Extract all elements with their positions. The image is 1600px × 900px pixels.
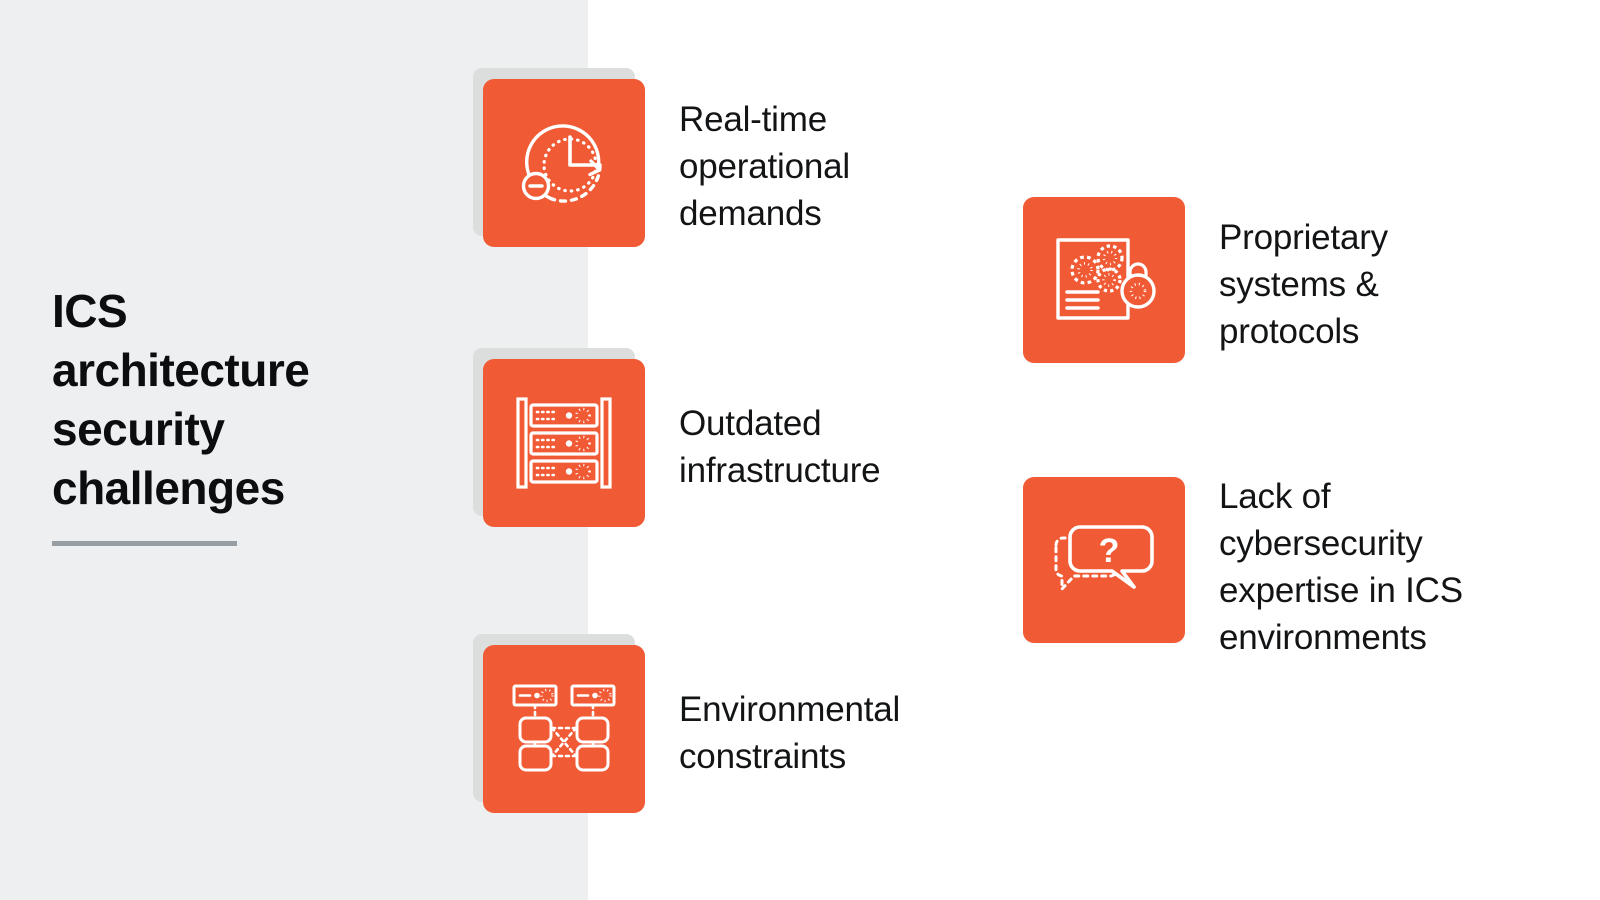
icon-card xyxy=(483,359,645,527)
challenge-label: Proprietary systems & protocols xyxy=(1219,214,1388,355)
network-topology-icon xyxy=(512,684,616,774)
icon-card-wrapper xyxy=(1023,197,1185,363)
page-title-block: ICS architecture security challenges xyxy=(52,282,452,518)
icon-card-wrapper xyxy=(483,359,645,527)
question-chat-bubble-icon: ? xyxy=(1052,517,1156,603)
challenge-item-lack-expertise: ? Lack of cybersecurity expertise in ICS… xyxy=(1023,477,1463,661)
challenge-label: Environmental constraints xyxy=(679,686,900,780)
icon-card-wrapper xyxy=(483,645,645,813)
server-rack-icon xyxy=(515,395,613,491)
challenge-item-proprietary: Proprietary systems & protocols xyxy=(1023,197,1388,363)
icon-card xyxy=(1023,197,1185,363)
page-title: ICS architecture security challenges xyxy=(52,282,452,518)
challenge-label: Real-time operational demands xyxy=(679,96,850,237)
challenge-item-outdated: Outdated infrastructure xyxy=(483,359,880,527)
challenge-item-environmental: Environmental constraints xyxy=(483,645,900,813)
icon-card-wrapper: ? xyxy=(1023,477,1185,643)
svg-text:?: ? xyxy=(1099,532,1120,570)
challenge-label: Outdated infrastructure xyxy=(679,400,880,494)
icon-card xyxy=(483,645,645,813)
challenge-item-realtime: Real-time operational demands xyxy=(483,79,850,247)
clock-refresh-icon xyxy=(512,111,616,215)
title-underline-rule xyxy=(52,541,237,546)
icon-card xyxy=(483,79,645,247)
icon-card: ? xyxy=(1023,477,1185,643)
document-gears-lock-icon xyxy=(1052,234,1156,326)
icon-card-wrapper xyxy=(483,79,645,247)
challenge-label: Lack of cybersecurity expertise in ICS e… xyxy=(1219,473,1463,661)
infographic-canvas: ICS architecture security challenges xyxy=(0,0,1600,900)
